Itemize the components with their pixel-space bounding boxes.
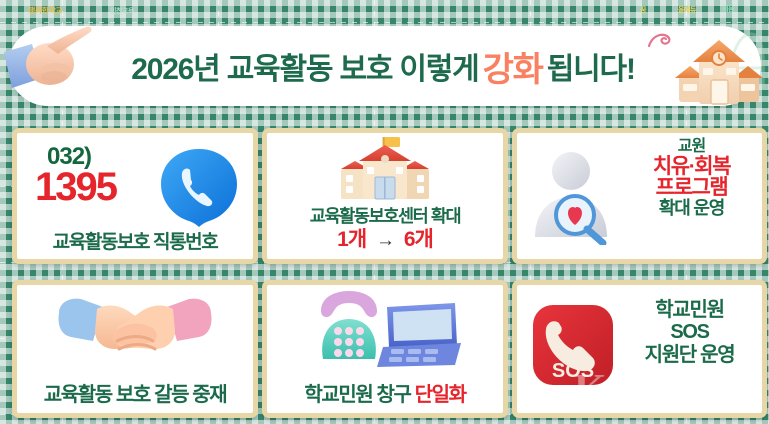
hotline-number: 1395 — [35, 165, 116, 210]
card-protection-center-inner: 교육활동보호센터 확대 1개 → 6개 — [267, 133, 503, 259]
count-from: 1개 — [337, 228, 366, 251]
card-hotline[interactable]: 032) 1395 교육활동보호 직통번호 — [12, 128, 258, 264]
card-sos-support[interactable]: SOS 학교민원 SOS 지원단 운영 — [512, 280, 767, 418]
poster-canvas: 행복한학교 인천교육 꿈 울에듀 세움 2026년 교육활동 보호 이렇게 강화… — [0, 0, 769, 424]
telephone-laptop-icon — [305, 289, 465, 373]
card-grid: 032) 1395 교육활동보호 직통번호 — [0, 0, 769, 424]
conflict-mediation-label: 교육활동 보호 갈등 중재 — [17, 378, 253, 407]
card-healing-program-inner: 교원 치유·회복 프로그램 확대 운영 — [517, 133, 762, 259]
card-single-window[interactable]: 학교민원 창구 단일화 — [262, 280, 508, 418]
blue-phone-bubble-icon — [157, 145, 241, 229]
school-building-icon — [337, 135, 433, 207]
count-to: 6개 — [404, 228, 433, 251]
handshake-icon — [55, 291, 215, 373]
card-single-window-inner: 학교민원 창구 단일화 — [267, 285, 503, 413]
healing-line-2: 치유·회복 — [625, 156, 758, 178]
arrow-icon: → — [371, 230, 399, 251]
sos-line-1: 학교민원 — [621, 299, 758, 321]
single-window-label: 학교민원 창구 단일화 — [267, 378, 503, 407]
hotline-label: 교육활동보호 직통번호 — [17, 227, 253, 254]
card-conflict-mediation-inner: 교육활동 보호 갈등 중재 — [17, 285, 253, 413]
card-sos-support-inner: SOS 학교민원 SOS 지원단 운영 — [517, 285, 762, 413]
single-window-label-red: 단일화 — [415, 384, 466, 406]
sos-support-text: 학교민원 SOS 지원단 운영 — [621, 299, 758, 366]
card-conflict-mediation[interactable]: 교육활동 보호 갈등 중재 — [12, 280, 258, 418]
svg-text:SOS: SOS — [552, 360, 594, 382]
healing-line-3: 프로그램 — [625, 177, 758, 199]
healing-line-4: 확대 운영 — [625, 199, 758, 218]
single-window-label-green: 학교민원 창구 — [304, 384, 410, 406]
sos-line-2: SOS — [621, 321, 758, 343]
healing-program-text: 교원 치유·회복 프로그램 확대 운영 — [625, 139, 758, 218]
card-protection-center[interactable]: 교육활동보호센터 확대 1개 → 6개 — [262, 128, 508, 264]
protection-center-change: 1개 → 6개 — [267, 223, 503, 253]
sos-line-3: 지원단 운영 — [621, 344, 758, 366]
healing-line-1: 교원 — [625, 139, 758, 156]
card-healing-program[interactable]: 교원 치유·회복 프로그램 확대 운영 — [512, 128, 767, 264]
sos-phone-icon: SOS — [531, 303, 615, 387]
card-hotline-inner: 032) 1395 교육활동보호 직통번호 — [17, 133, 253, 259]
person-heart-magnifier-icon — [523, 145, 623, 245]
